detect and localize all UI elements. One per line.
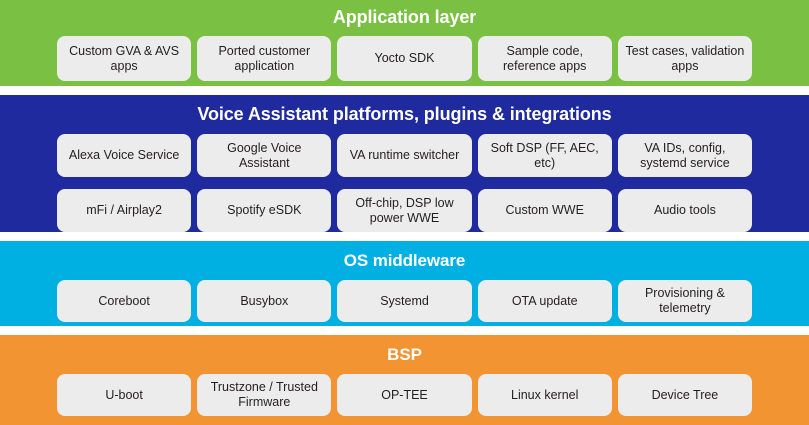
stack-item[interactable]: Device Tree (618, 374, 752, 416)
layer-row: mFi / Airplay2 Spotify eSDK Off-chip, DS… (57, 189, 752, 232)
layer-bsp-layer: BSP U-boot Trustzone / Trusted Firmware … (0, 335, 809, 425)
stack-item[interactable]: Alexa Voice Service (57, 134, 191, 177)
layer-rows-bsp-layer: U-boot Trustzone / Trusted Firmware OP-T… (0, 374, 809, 416)
software-stack-diagram: Application layer Custom GVA & AVS apps … (0, 0, 809, 424)
stack-item[interactable]: Trustzone / Trusted Firmware (197, 374, 331, 416)
stack-item[interactable]: Busybox (197, 280, 331, 322)
layer-application-layer: Application layer Custom GVA & AVS apps … (0, 0, 809, 86)
layer-title-os-middleware-layer: OS middleware (0, 252, 809, 269)
layer-row: Alexa Voice Service Google Voice Assista… (57, 134, 752, 177)
stack-item[interactable]: mFi / Airplay2 (57, 189, 191, 232)
layer-row: U-boot Trustzone / Trusted Firmware OP-T… (57, 374, 752, 416)
stack-item[interactable]: Linux kernel (478, 374, 612, 416)
layer-title-voice-assistant-layer: Voice Assistant platforms, plugins & int… (0, 105, 809, 123)
layer-title-application-layer: Application layer (0, 8, 809, 26)
layer-row: Custom GVA & AVS apps Ported customer ap… (57, 36, 752, 81)
stack-item[interactable]: Sample code, reference apps (478, 36, 612, 81)
stack-item[interactable]: OP-TEE (337, 374, 471, 416)
stack-item[interactable]: Provisioning & telemetry (618, 280, 752, 322)
layer-row: Coreboot Busybox Systemd OTA update Prov… (57, 280, 752, 322)
layer-rows-voice-assistant-layer: Alexa Voice Service Google Voice Assista… (0, 134, 809, 232)
stack-item[interactable]: Spotify eSDK (197, 189, 331, 232)
stack-item[interactable]: Yocto SDK (337, 36, 471, 81)
stack-item[interactable]: Ported customer application (197, 36, 331, 81)
layer-rows-os-middleware-layer: Coreboot Busybox Systemd OTA update Prov… (0, 280, 809, 322)
stack-item[interactable]: Soft DSP (FF, AEC, etc) (478, 134, 612, 177)
stack-item[interactable]: Systemd (337, 280, 471, 322)
stack-item[interactable]: Off-chip, DSP low power WWE (337, 189, 471, 232)
stack-item[interactable]: Google Voice Assistant (197, 134, 331, 177)
layer-rows-application-layer: Custom GVA & AVS apps Ported customer ap… (0, 36, 809, 81)
layer-voice-assistant-layer: Voice Assistant platforms, plugins & int… (0, 95, 809, 232)
stack-item[interactable]: Test cases, validation apps (618, 36, 752, 81)
stack-item[interactable]: Custom GVA & AVS apps (57, 36, 191, 81)
stack-item[interactable]: Audio tools (618, 189, 752, 232)
stack-item[interactable]: Coreboot (57, 280, 191, 322)
stack-item[interactable]: OTA update (478, 280, 612, 322)
stack-item[interactable]: VA IDs, config, systemd service (618, 134, 752, 177)
stack-item[interactable]: VA runtime switcher (337, 134, 471, 177)
layer-title-bsp-layer: BSP (0, 346, 809, 363)
stack-item[interactable]: U-boot (57, 374, 191, 416)
layer-os-middleware-layer: OS middleware Coreboot Busybox Systemd O… (0, 241, 809, 326)
stack-item[interactable]: Custom WWE (478, 189, 612, 232)
